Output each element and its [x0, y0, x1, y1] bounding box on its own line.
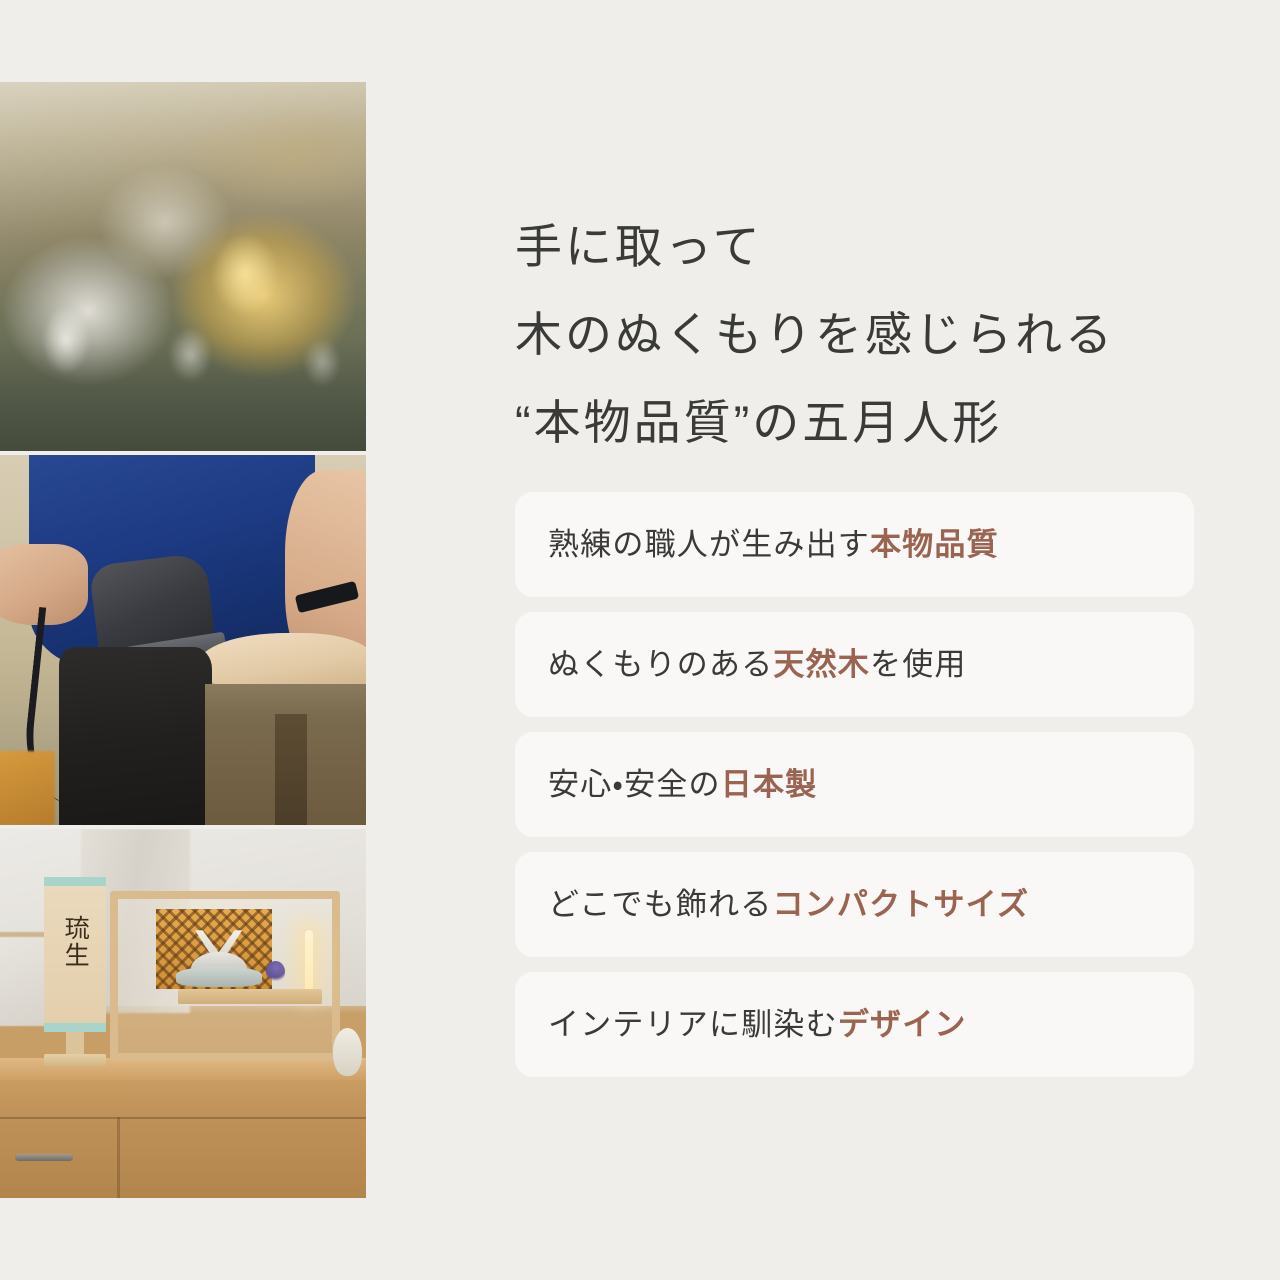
feature-accent: デザイン	[838, 1007, 967, 1042]
feature-text: インテリアに馴染むデザイン	[548, 1006, 967, 1043]
name-scroll-foot	[44, 1054, 106, 1067]
iris-flowers	[266, 961, 285, 983]
feature-accent: コンパクトサイズ	[772, 887, 1029, 922]
drawer-divider	[117, 1117, 120, 1198]
name-scroll-text: 琉生	[62, 915, 88, 969]
headline-line-2: 木のぬくもりを感じられる	[515, 291, 1195, 379]
feature-prefix: 安心・安全の	[548, 767, 721, 802]
drawer-seam	[0, 1117, 366, 1119]
feature-pill-4[interactable]: どこでも飾れるコンパクトサイズ	[515, 852, 1194, 957]
feature-pill-1[interactable]: 熟練の職人が生み出す本物品質	[515, 492, 1194, 597]
feature-pill-2[interactable]: ぬくもりのある天然木を使用	[515, 612, 1194, 717]
page-headline: 手に取って 木のぬくもりを感じられる “本物品質”の五月人形	[515, 203, 1195, 467]
feature-text: 熟練の職人が生み出す本物品質	[548, 526, 999, 563]
photo-column: 琉生	[0, 82, 366, 1198]
feature-pill-5[interactable]: インテリアに馴染むデザイン	[515, 972, 1194, 1077]
feature-accent: 天然木	[773, 647, 870, 682]
photo-kabuto-display-case-room: 琉生	[0, 829, 366, 1198]
feature-text: どこでも飾れるコンパクトサイズ	[548, 886, 1029, 923]
feature-suffix: を使用	[870, 647, 967, 682]
feature-text: ぬくもりのある天然木を使用	[548, 646, 967, 683]
feature-prefix: ぬくもりのある	[548, 647, 773, 682]
photo-craftsman-sanding-wood	[0, 455, 366, 824]
feature-accent: 本物品質	[870, 527, 999, 562]
feature-prefix: どこでも飾れる	[548, 887, 772, 922]
display-light	[305, 930, 313, 992]
feature-accent: 日本製	[721, 767, 818, 802]
feature-list: 熟練の職人が生み出す本物品質ぬくもりのある天然木を使用安心・安全の日本製どこでも…	[515, 492, 1194, 1077]
small-ornament	[333, 1028, 362, 1076]
storage-crate	[0, 751, 55, 825]
name-scroll: 琉生	[44, 877, 106, 1032]
feature-prefix: インテリアに馴染む	[548, 1007, 838, 1042]
workbench-leg	[275, 714, 308, 825]
drawer-handle	[15, 1154, 74, 1161]
photo-armor-parts-workbench	[0, 82, 366, 451]
kabuto-neck-guard	[176, 967, 262, 987]
feature-pill-3[interactable]: 安心・安全の日本製	[515, 732, 1194, 837]
display-case-base	[178, 989, 322, 1004]
content-column: 手に取って 木のぬくもりを感じられる “本物品質”の五月人形 熟練の職人が生み出…	[515, 0, 1195, 1280]
headline-line-3: “本物品質”の五月人形	[515, 379, 1195, 467]
feature-prefix: 熟練の職人が生み出す	[548, 527, 870, 562]
display-case	[110, 891, 341, 1061]
headline-line-1: 手に取って	[515, 203, 1195, 291]
craftsman-pants	[59, 647, 213, 824]
feature-text: 安心・安全の日本製	[548, 766, 817, 803]
